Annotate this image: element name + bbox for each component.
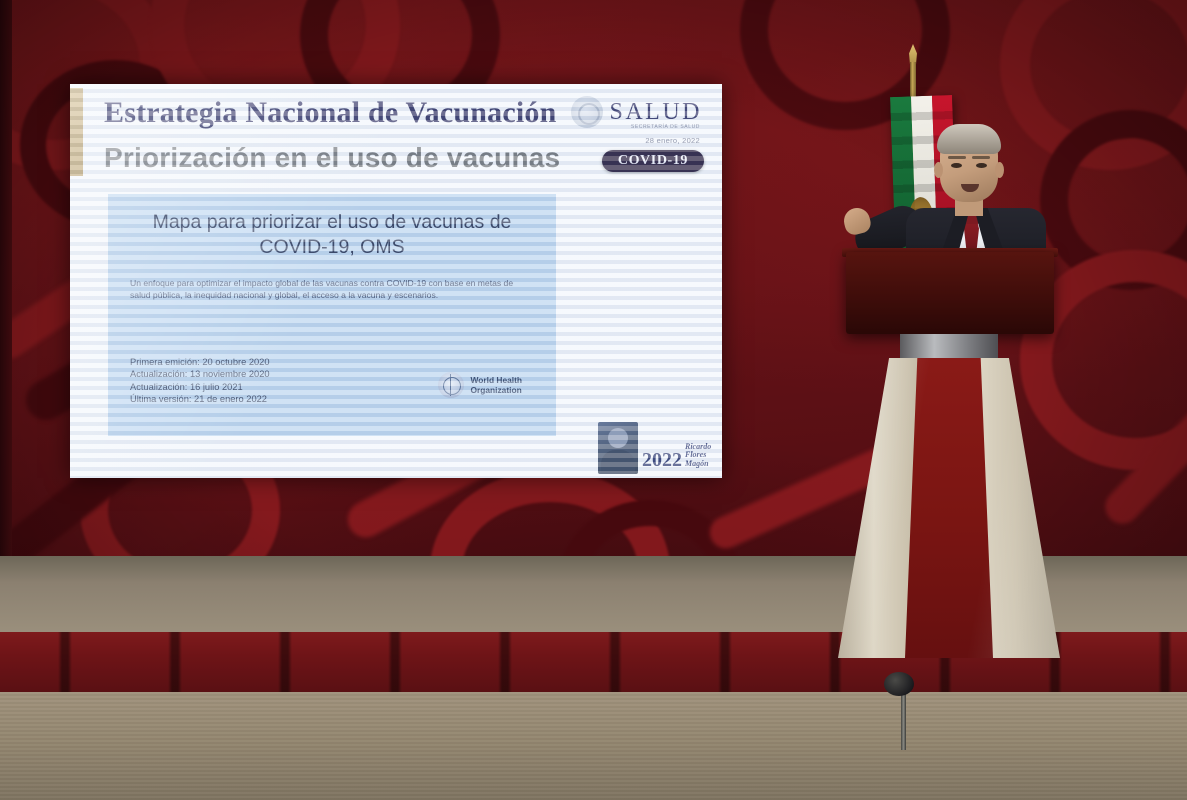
speaker-brow-right xyxy=(972,156,990,159)
card-heading-line1: Mapa para priorizar el uso de vacunas de xyxy=(130,210,534,235)
commemorative-name-line3: Magón xyxy=(685,460,711,469)
covid-badge: COVID-19 xyxy=(602,150,704,172)
who-label: World Health Organization xyxy=(471,375,523,396)
who-label-line2: Organization xyxy=(471,385,523,396)
salud-subtitle: SECRETARÍA DE SALUD xyxy=(631,124,700,130)
speaker-eye-left xyxy=(951,163,962,168)
floor-texture xyxy=(0,692,1187,800)
flores-magon-logo: 2022 Ricardo Flores Magón xyxy=(598,420,714,474)
card-body-text: Un enfoque para optimizar el impacto glo… xyxy=(130,278,534,301)
presentation-slide: Estrategia Nacional de Vacunación Priori… xyxy=(70,84,722,478)
commemorative-year: 2022 xyxy=(642,450,682,470)
wall-left-edge xyxy=(0,0,12,556)
projection-screen: Estrategia Nacional de Vacunación Priori… xyxy=(70,84,722,478)
card-heading-line2: COVID-19, OMS xyxy=(130,235,534,260)
revision-item: Última versión: 21 de enero 2022 xyxy=(130,393,270,406)
government-seal-icon xyxy=(571,96,603,128)
speaker-eye-right xyxy=(976,163,987,168)
revision-item: Actualización: 13 noviembre 2020 xyxy=(130,368,270,381)
slide-title-primary: Estrategia Nacional de Vacunación xyxy=(104,96,556,130)
slide-date: 28 enero, 2022 xyxy=(645,136,700,145)
speaker-hair xyxy=(937,124,1001,154)
microphone-icon xyxy=(884,672,914,696)
speaker-brow-left xyxy=(948,156,966,159)
speaker-ear-right xyxy=(995,162,1004,178)
microphone-stand xyxy=(901,688,906,750)
revision-item: Primera emición: 20 octubre 2020 xyxy=(130,356,270,369)
flores-magon-portrait-icon xyxy=(598,422,638,474)
screenshot-scene: Estrategia Nacional de Vacunación Priori… xyxy=(0,0,1187,800)
who-logo: World Health Organization xyxy=(438,372,523,398)
revision-item: Actualización: 16 julio 2021 xyxy=(130,381,270,394)
salud-wordmark: SALUD xyxy=(609,99,702,126)
speaker-ear-left xyxy=(934,162,943,178)
card-heading: Mapa para priorizar el uso de vacunas de… xyxy=(130,210,534,260)
who-label-line1: World Health xyxy=(471,375,523,386)
slide-title-secondary: Priorización en el uso de vacunas xyxy=(104,142,560,174)
who-globe-icon xyxy=(438,372,464,398)
header-gold-bar xyxy=(70,88,83,176)
podium-column xyxy=(900,334,998,360)
revision-history: Primera emición: 20 octubre 2020 Actuali… xyxy=(130,356,270,406)
slide-header: Estrategia Nacional de Vacunación Priori… xyxy=(70,84,722,180)
podium-front xyxy=(846,252,1054,334)
content-card: Mapa para priorizar el uso de vacunas de… xyxy=(108,194,556,436)
commemorative-name: Ricardo Flores Magón xyxy=(685,443,711,469)
